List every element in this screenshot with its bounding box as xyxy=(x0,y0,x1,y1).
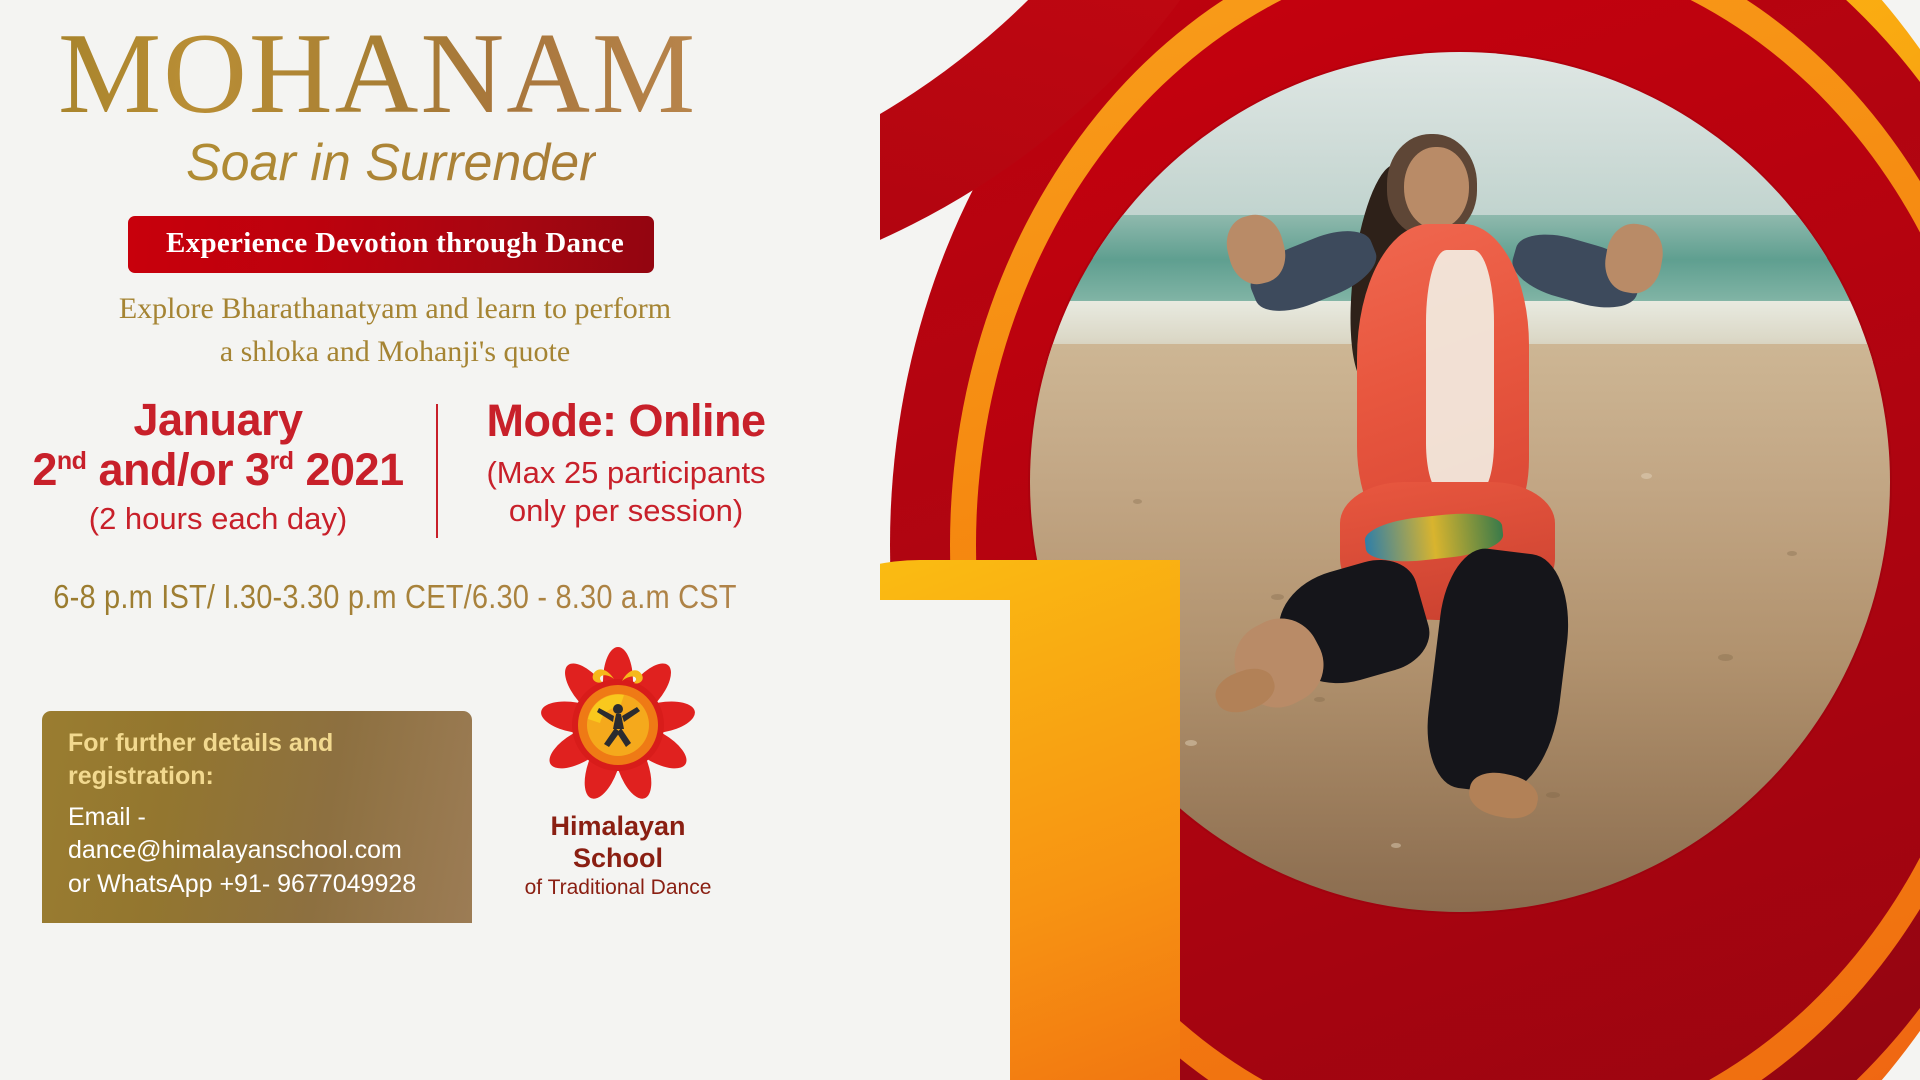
mode-column: Mode: Online (Max 25 participants only p… xyxy=(436,396,790,539)
content-panel: MOHANAM Soar in Surrender Experience Dev… xyxy=(0,0,900,1080)
decorative-artwork xyxy=(880,0,1920,1080)
contact-whatsapp[interactable]: or WhatsApp +91- 9677049928 xyxy=(68,868,450,901)
tagline: Soar in Surrender xyxy=(186,133,596,193)
date-month: January xyxy=(0,396,436,445)
date-day-conjunction: and/or 3 xyxy=(86,444,269,495)
column-divider xyxy=(436,404,438,538)
date-duration-note: (2 hours each day) xyxy=(0,499,436,539)
contact-email[interactable]: Email - dance@himalayanschool.com xyxy=(68,801,450,868)
highlight-banner: Experience Devotion through Dance xyxy=(128,216,654,273)
description-line-2: a shloka and Mohanji's quote xyxy=(0,331,790,374)
page-title: MOHANAM xyxy=(58,14,697,136)
school-logo: Himalayan School of Traditional Dance xyxy=(518,645,718,900)
description-line-1: Explore Bharathanatyam and learn to perf… xyxy=(0,288,790,331)
contact-box: For further details and registration: Em… xyxy=(42,711,472,923)
timezone-line: 6-8 p.m IST/ I.30-3.30 p.m CET/6.30 - 8.… xyxy=(47,578,742,616)
date-column: January 2nd and/or 3rd 2021 (2 hours eac… xyxy=(0,396,436,539)
lotus-flame-dancer-icon xyxy=(536,645,700,805)
dancer-tunic-embroidery xyxy=(1426,250,1495,491)
date-day-second-ordinal: rd xyxy=(270,447,294,475)
mode-capacity-line-2: only per session) xyxy=(462,492,790,531)
schedule-block: January 2nd and/or 3rd 2021 (2 hours eac… xyxy=(0,396,790,539)
contact-heading: For further details and registration: xyxy=(68,727,450,792)
mode-capacity-line-1: (Max 25 participants xyxy=(462,454,790,493)
poster-root: MOHANAM Soar in Surrender Experience Dev… xyxy=(0,0,1920,1080)
date-day-first: 2 xyxy=(32,444,57,495)
mode-title: Mode: Online xyxy=(462,396,790,446)
highlight-banner-text: Experience Devotion through Dance xyxy=(166,227,624,259)
description: Explore Bharathanatyam and learn to perf… xyxy=(0,288,790,373)
dancer-face xyxy=(1404,147,1469,230)
date-days: 2nd and/or 3rd 2021 xyxy=(0,445,436,495)
logo-school-subtitle: of Traditional Dance xyxy=(518,875,718,900)
logo-school-name: Himalayan School xyxy=(518,811,718,875)
date-year: 2021 xyxy=(294,444,404,495)
date-day-first-ordinal: nd xyxy=(57,447,87,475)
mode-capacity-note: (Max 25 participants only per session) xyxy=(462,454,790,532)
